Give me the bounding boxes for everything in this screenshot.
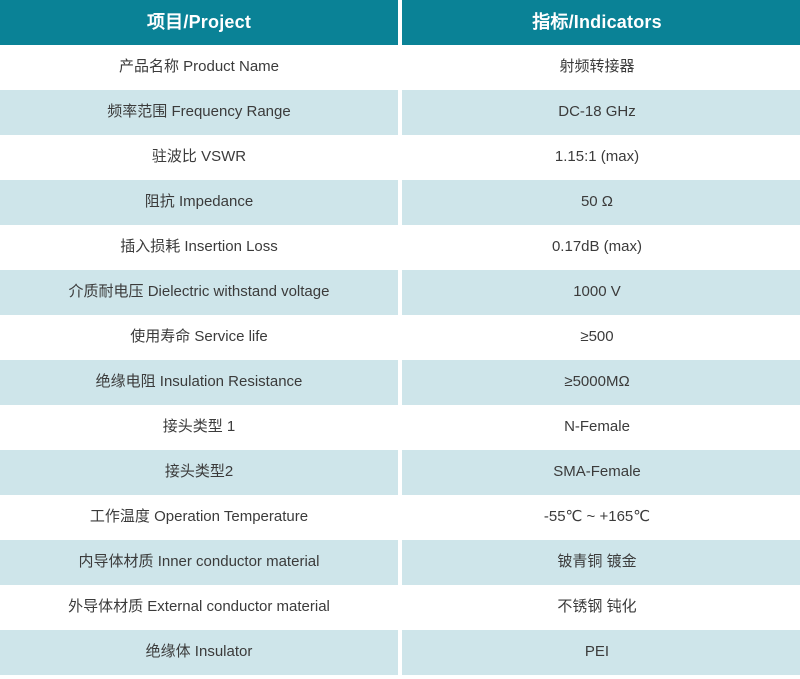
row-right-edge: [792, 135, 800, 180]
cell-indicator: ≥500: [402, 315, 792, 360]
table-row: 产品名称 Product Name射频转接器: [0, 45, 800, 90]
cell-indicator: 射频转接器: [402, 45, 792, 90]
column-header-project: 项目/Project: [0, 0, 398, 45]
cell-indicator: SMA-Female: [402, 450, 792, 495]
cell-indicator: PEI: [402, 630, 792, 675]
table-row: 绝缘体 InsulatorPEI: [0, 630, 800, 675]
cell-indicator: DC-18 GHz: [402, 90, 792, 135]
table-row: 接头类型2SMA-Female: [0, 450, 800, 495]
header-row: 项目/Project 指标/Indicators: [0, 0, 800, 45]
cell-project: 接头类型2: [0, 450, 398, 495]
row-right-edge: [792, 45, 800, 90]
table-row: 使用寿命 Service life≥500: [0, 315, 800, 360]
table-row: 绝缘电阻 Insulation Resistance≥5000MΩ: [0, 360, 800, 405]
row-right-edge: [792, 315, 800, 360]
table-row: 工作温度 Operation Temperature-55℃ ~ +165℃: [0, 495, 800, 540]
table-row: 接头类型 1N-Female: [0, 405, 800, 450]
table-row: 频率范围 Frequency RangeDC-18 GHz: [0, 90, 800, 135]
cell-indicator: N-Female: [402, 405, 792, 450]
cell-indicator: 0.17dB (max): [402, 225, 792, 270]
cell-indicator: 1000 V: [402, 270, 792, 315]
cell-project: 绝缘体 Insulator: [0, 630, 398, 675]
cell-project: 频率范围 Frequency Range: [0, 90, 398, 135]
row-right-edge: [792, 405, 800, 450]
cell-indicator: ≥5000MΩ: [402, 360, 792, 405]
table-row: 外导体材质 External conductor material不锈钢 钝化: [0, 585, 800, 630]
cell-project: 绝缘电阻 Insulation Resistance: [0, 360, 398, 405]
cell-project: 插入损耗 Insertion Loss: [0, 225, 398, 270]
row-right-edge: [792, 225, 800, 270]
cell-project: 接头类型 1: [0, 405, 398, 450]
specification-table: 项目/Project 指标/Indicators 产品名称 Product Na…: [0, 0, 800, 675]
cell-indicator: -55℃ ~ +165℃: [402, 495, 792, 540]
cell-project: 外导体材质 External conductor material: [0, 585, 398, 630]
cell-project: 阻抗 Impedance: [0, 180, 398, 225]
row-right-edge: [792, 540, 800, 585]
cell-indicator: 1.15:1 (max): [402, 135, 792, 180]
cell-indicator: 不锈钢 钝化: [402, 585, 792, 630]
row-right-edge: [792, 630, 800, 675]
table-row: 插入损耗 Insertion Loss0.17dB (max): [0, 225, 800, 270]
header-right-edge: [792, 0, 800, 45]
table-body: 产品名称 Product Name射频转接器频率范围 Frequency Ran…: [0, 45, 800, 675]
table-row: 阻抗 Impedance50 Ω: [0, 180, 800, 225]
row-right-edge: [792, 180, 800, 225]
column-header-indicators: 指标/Indicators: [402, 0, 792, 45]
cell-project: 介质耐电压 Dielectric withstand voltage: [0, 270, 398, 315]
cell-project: 工作温度 Operation Temperature: [0, 495, 398, 540]
cell-project: 内导体材质 Inner conductor material: [0, 540, 398, 585]
cell-project: 使用寿命 Service life: [0, 315, 398, 360]
row-right-edge: [792, 585, 800, 630]
table-row: 内导体材质 Inner conductor material铍青铜 镀金: [0, 540, 800, 585]
row-right-edge: [792, 270, 800, 315]
table-row: 驻波比 VSWR1.15:1 (max): [0, 135, 800, 180]
cell-indicator: 50 Ω: [402, 180, 792, 225]
row-right-edge: [792, 450, 800, 495]
table-header: 项目/Project 指标/Indicators: [0, 0, 800, 45]
row-right-edge: [792, 495, 800, 540]
cell-indicator: 铍青铜 镀金: [402, 540, 792, 585]
row-right-edge: [792, 360, 800, 405]
cell-project: 产品名称 Product Name: [0, 45, 398, 90]
row-right-edge: [792, 90, 800, 135]
cell-project: 驻波比 VSWR: [0, 135, 398, 180]
table-row: 介质耐电压 Dielectric withstand voltage1000 V: [0, 270, 800, 315]
